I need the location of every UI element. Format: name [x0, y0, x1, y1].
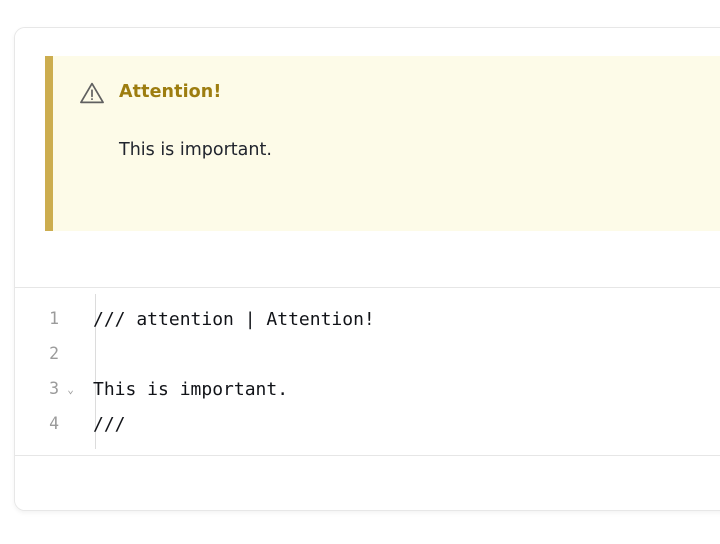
line-gutter[interactable]: 1 [15, 302, 81, 337]
card-footer [15, 456, 720, 510]
chevron-down-icon[interactable]: ⌄ [65, 384, 76, 395]
line-number: 2 [49, 346, 59, 363]
code-line-text[interactable]: This is important. [81, 381, 720, 399]
code-line-row[interactable]: 1 /// attention | Attention! [15, 302, 720, 337]
source-code-editor[interactable]: 1 /// attention | Attention! 2 3 ⌄ [15, 288, 720, 456]
preview-card: Attention! This is important. 1 /// atte… [14, 27, 720, 511]
page-root: Attention! This is important. 1 /// atte… [0, 0, 720, 544]
line-number: 1 [49, 311, 59, 328]
line-gutter[interactable]: 3 ⌄ [15, 372, 81, 407]
warning-triangle-icon [79, 80, 105, 106]
attention-admonition: Attention! This is important. [45, 56, 720, 231]
code-line-row[interactable]: 2 [15, 337, 720, 372]
line-number: 3 [49, 381, 59, 398]
editor-lines: 1 /// attention | Attention! 2 3 ⌄ [15, 302, 720, 442]
code-line-text[interactable]: /// attention | Attention! [81, 311, 720, 329]
line-number: 4 [49, 416, 59, 433]
line-gutter[interactable]: 2 [15, 337, 81, 372]
code-line-row[interactable]: 4 /// [15, 407, 720, 442]
rendered-preview-pane: Attention! This is important. [15, 28, 720, 288]
admonition-body: This is important. [53, 138, 720, 163]
admonition-title: Attention! [119, 84, 221, 102]
code-line-row[interactable]: 3 ⌄ This is important. [15, 372, 720, 407]
line-gutter[interactable]: 4 [15, 407, 81, 442]
admonition-title-row: Attention! [53, 78, 720, 108]
code-line-text[interactable]: /// [81, 416, 720, 434]
